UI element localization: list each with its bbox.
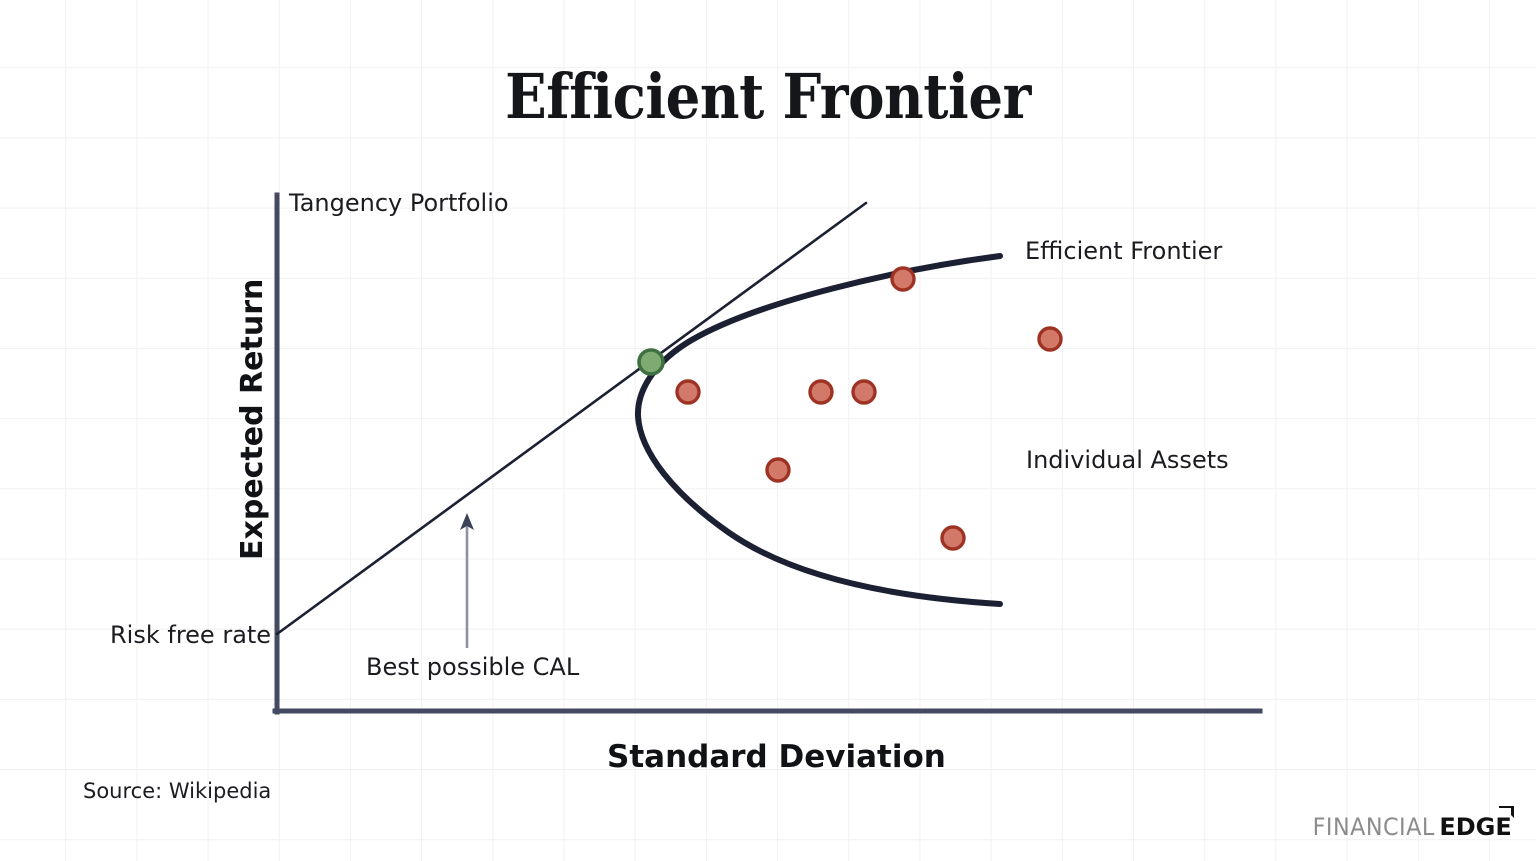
capital-allocation-line <box>277 203 866 634</box>
chart-canvas: Efficient Frontier Expected Return Stand… <box>0 0 1536 861</box>
asset-point <box>1039 328 1061 350</box>
annotation-risk-free-rate: Risk free rate <box>110 621 271 649</box>
annotation-best-possible-cal: Best possible CAL <box>366 653 579 681</box>
asset-point <box>810 381 832 403</box>
asset-point <box>677 381 699 403</box>
annotation-tangency-portfolio: Tangency Portfolio <box>289 189 509 217</box>
brand-flag-icon <box>1498 805 1515 822</box>
annotation-efficient-frontier: Efficient Frontier <box>1025 237 1222 265</box>
page-title: Efficient Frontier <box>92 60 1444 133</box>
asset-point <box>853 381 875 403</box>
source-note: Source: Wikipedia <box>83 779 271 803</box>
asset-point <box>767 459 789 481</box>
asset-point <box>892 268 914 290</box>
brand-logo-financial: FINANCIAL <box>1313 813 1435 841</box>
best-possible-cal-arrow-icon <box>460 513 474 648</box>
brand-logo: FINANCIALEDGE <box>1308 813 1512 843</box>
annotation-individual-assets: Individual Assets <box>1026 446 1229 474</box>
y-axis-label: Expected Return <box>235 279 270 560</box>
x-axis-label: Standard Deviation <box>607 739 946 775</box>
tangency-portfolio-point <box>639 350 663 374</box>
asset-point <box>942 527 964 549</box>
individual-asset-markers <box>677 268 1061 549</box>
efficient-frontier-curve <box>638 256 1000 604</box>
